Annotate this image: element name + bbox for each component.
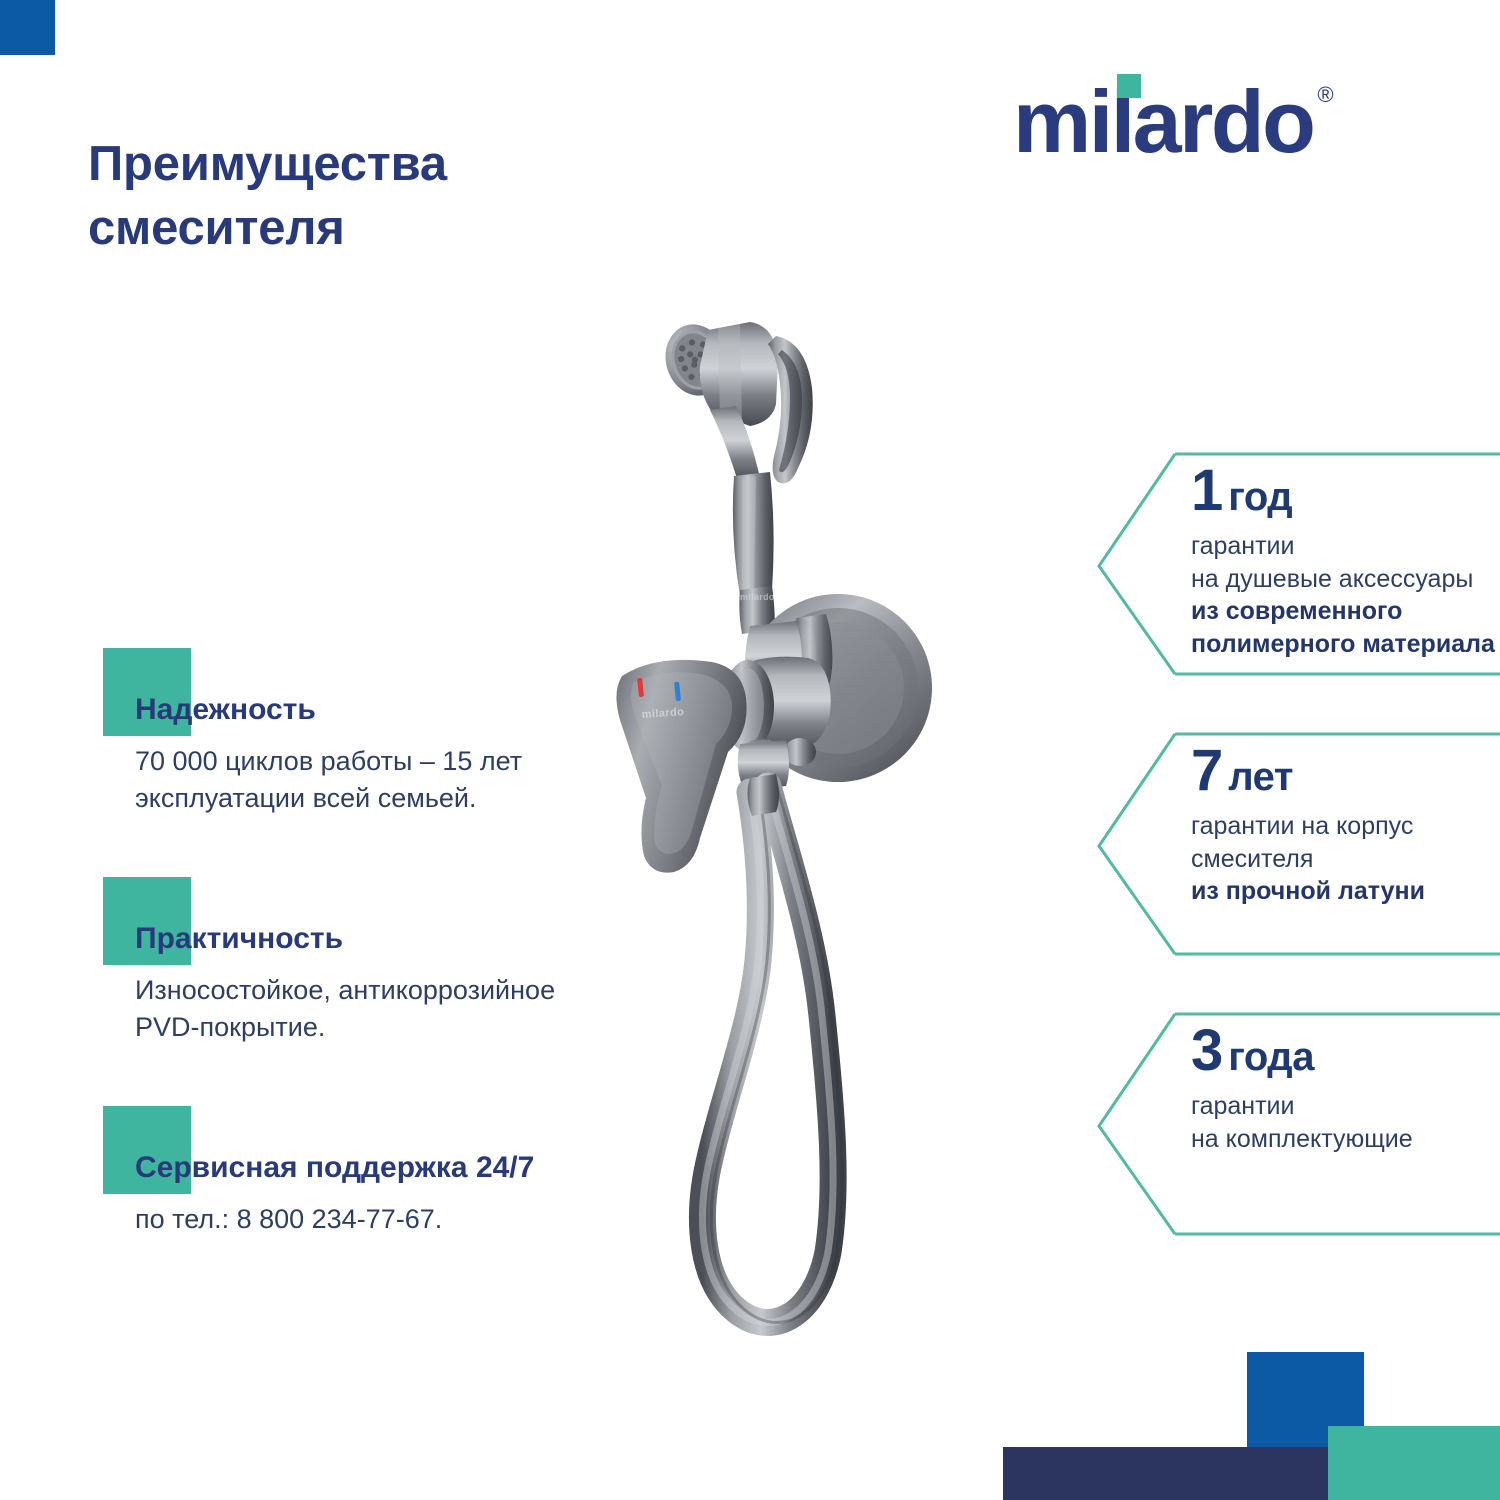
feature-title: Сервисная поддержка 24/7 <box>103 1106 713 1184</box>
features-list: Надежность 70 000 циклов работы – 15 лет… <box>103 648 713 1238</box>
warranty-line-1: гарантии <box>1191 1090 1500 1123</box>
feature-body-line-1: по тел.: 8 800 234-77-67. <box>135 1204 442 1234</box>
warranty-description: гарантии на комплектующие <box>1191 1090 1500 1155</box>
warranty-list: 1год гарантии на душевые аксессуары из с… <box>1097 452 1500 1236</box>
warranty-number: 1 <box>1191 458 1222 523</box>
warranty-heading: 7лет <box>1191 742 1500 800</box>
warranty-number: 3 <box>1191 1018 1222 1083</box>
infographic-page: Преимущества смесителя milardo ® <box>0 0 1500 1500</box>
feature-item-practicality: Практичность Износостойкое, антикоррозий… <box>103 877 713 1046</box>
feature-body-line-1: 70 000 циклов работы – 15 лет <box>135 746 522 776</box>
warranty-description: гарантии на корпус смесителя из прочной … <box>1191 810 1500 908</box>
warranty-line-2: на комплектующие <box>1191 1123 1500 1156</box>
warranty-line-2: смесителя <box>1191 843 1500 876</box>
warranty-unit: год <box>1228 475 1292 519</box>
decor-block-teal-rect <box>1328 1426 1500 1500</box>
page-title-line-2: смесителя <box>88 197 648 261</box>
warranty-content: 7лет гарантии на корпус смесителя из про… <box>1191 742 1500 908</box>
feature-body-line-1: Износостойкое, антикоррозийное <box>135 975 555 1005</box>
warranty-card-components: 3года гарантии на комплектующие <box>1097 1012 1500 1236</box>
feature-item-reliability: Надежность 70 000 циклов работы – 15 лет… <box>103 648 713 817</box>
brand-logo-text: milardo <box>1013 72 1313 171</box>
warranty-card-accessories: 1год гарантии на душевые аксессуары из с… <box>1097 452 1500 676</box>
warranty-line-4: полимерного материала <box>1191 628 1500 661</box>
registered-trademark-icon: ® <box>1317 84 1333 106</box>
feature-body: по тел.: 8 800 234-77-67. <box>103 1184 713 1238</box>
feature-item-service-support: Сервисная поддержка 24/7 по тел.: 8 800 … <box>103 1106 713 1238</box>
logo-i-dot-square-icon <box>1117 74 1141 98</box>
feature-body-line-2: PVD-покрытие. <box>135 1012 325 1042</box>
feature-body: Износостойкое, антикоррозийное PVD-покры… <box>103 955 713 1047</box>
decor-block-navy-bar <box>1003 1447 1328 1500</box>
feature-body-line-2: эксплуатации всей семьей. <box>135 783 476 813</box>
feature-title: Надежность <box>103 648 713 726</box>
warranty-unit: лет <box>1228 755 1293 799</box>
page-title-line-1: Преимущества <box>88 133 648 197</box>
warranty-line-1: гарантии на корпус <box>1191 810 1500 843</box>
warranty-line-3: из прочной латуни <box>1191 875 1500 908</box>
warranty-card-body: 7лет гарантии на корпус смесителя из про… <box>1097 732 1500 956</box>
warranty-description: гарантии на душевые аксессуары из соврем… <box>1191 530 1500 660</box>
warranty-line-3: из современного <box>1191 595 1500 628</box>
warranty-heading: 1год <box>1191 462 1500 520</box>
page-title: Преимущества смесителя <box>88 133 648 260</box>
warranty-line-2: на душевые аксессуары <box>1191 563 1500 596</box>
corner-accent-block-top-left <box>0 0 55 55</box>
warranty-content: 3года гарантии на комплектующие <box>1191 1022 1500 1155</box>
brand-logo-wordmark: milardo <box>1013 78 1313 166</box>
svg-text:milardo: milardo <box>740 592 775 602</box>
warranty-content: 1год гарантии на душевые аксессуары из с… <box>1191 462 1500 660</box>
warranty-unit: года <box>1228 1035 1314 1079</box>
warranty-heading: 3года <box>1191 1022 1500 1080</box>
feature-body: 70 000 циклов работы – 15 лет эксплуатац… <box>103 726 713 818</box>
brand-logo: milardo ® <box>1013 78 1334 166</box>
warranty-line-1: гарантии <box>1191 530 1500 563</box>
feature-title: Практичность <box>103 877 713 955</box>
warranty-number: 7 <box>1191 738 1222 803</box>
